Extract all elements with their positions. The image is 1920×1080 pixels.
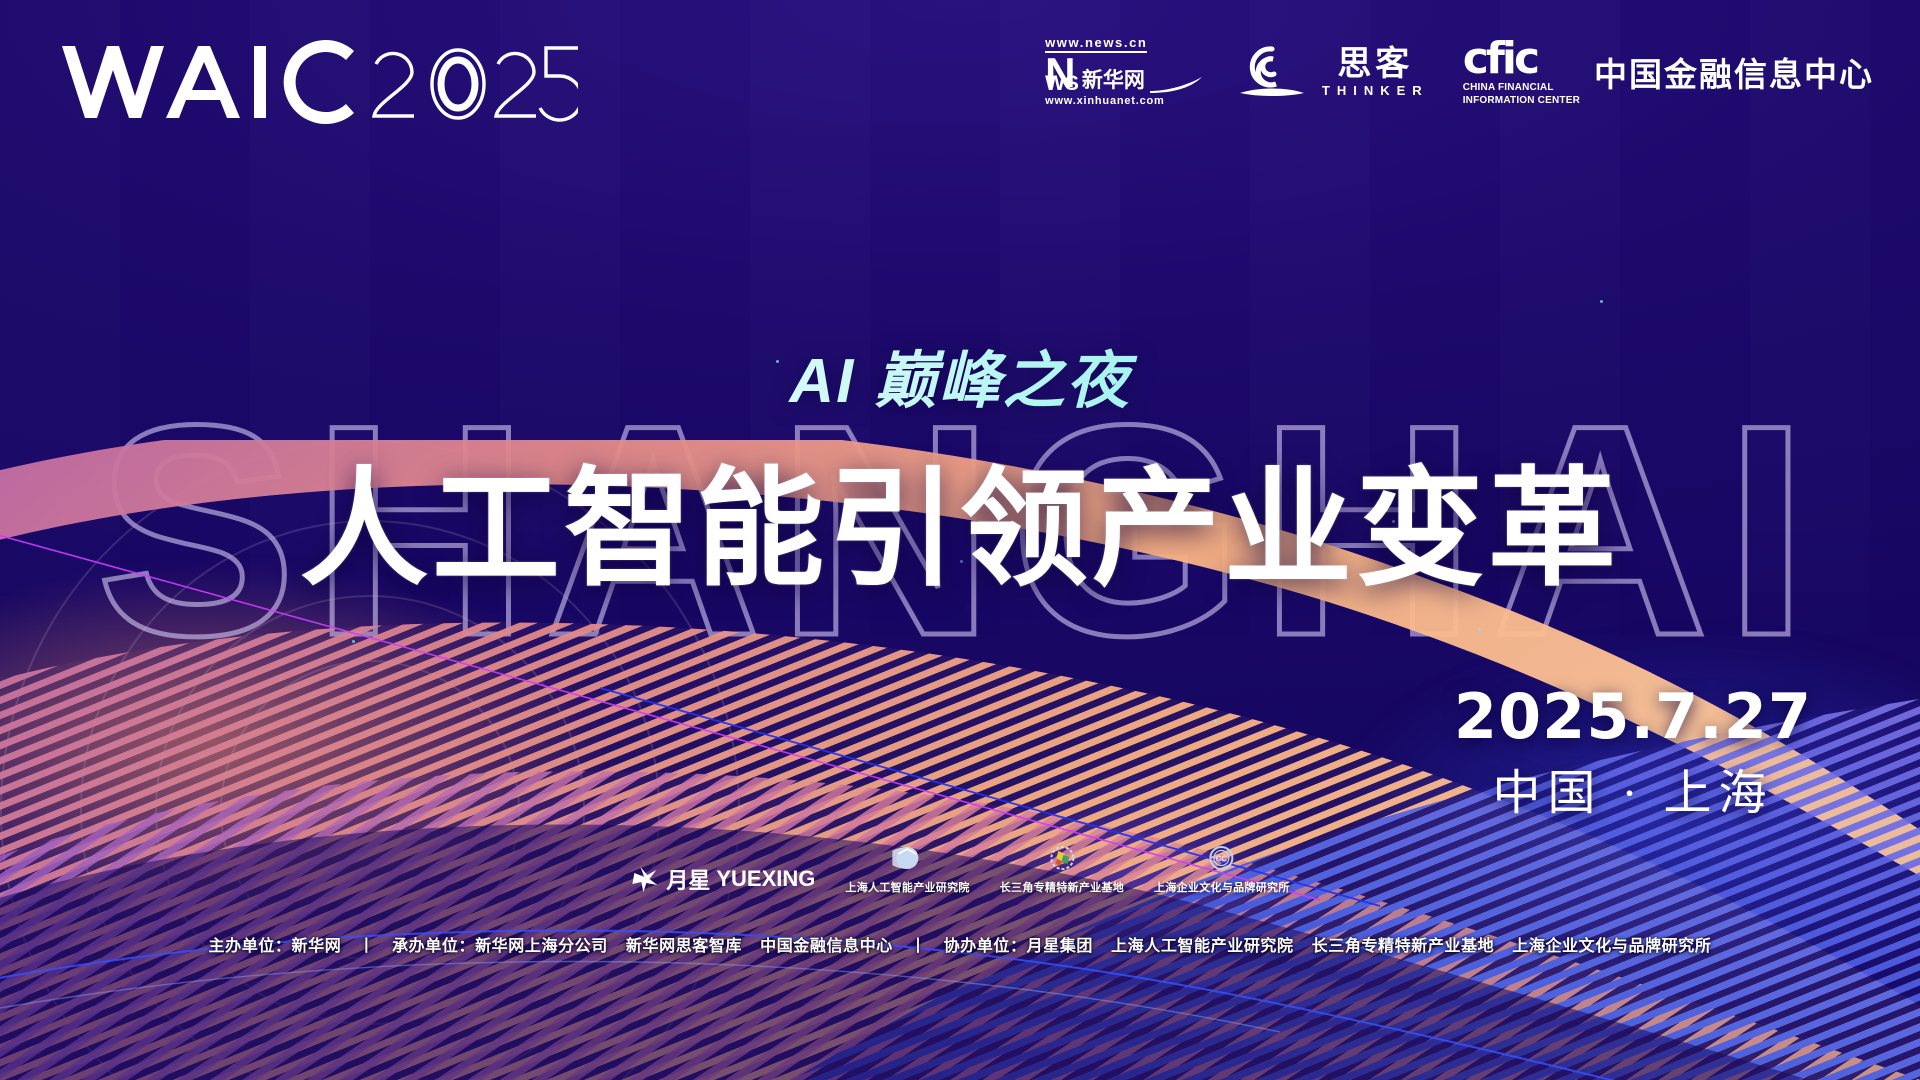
credits-organizer-label: 承办单位： <box>392 938 475 955</box>
thinker-cn: 思客 <box>1337 47 1413 81</box>
credits-organizer-2: 中国金融信息中心 <box>760 938 893 955</box>
date-location-block: 2025.7.27 中国 · 上海 <box>1454 686 1812 818</box>
partner-logo-thinker[interactable]: 思客 THINKER <box>1238 43 1429 101</box>
cfic-en-line1: CHINA FINANCIAL <box>1463 82 1580 94</box>
event-place: 中国 · 上海 <box>1454 770 1812 818</box>
header: www.news.cn N WS 新华网 www.xinhuanet.com <box>0 0 1920 150</box>
credits-organizer-0: 新华网上海分公司 <box>475 938 608 955</box>
waic-logo[interactable] <box>58 42 578 122</box>
yrd-base-circle-icon <box>1047 845 1077 875</box>
xinhuanet-cn: 新华网 <box>1082 70 1145 93</box>
yuexing-mark: 月星 <box>666 863 710 895</box>
credits-host: 新华网 <box>292 938 342 955</box>
credits-coorganizer-2: 长三角专精特新产业基地 <box>1312 938 1495 955</box>
sponsor-yuexing[interactable]: 月星 YUEXING <box>630 863 815 895</box>
cfic-wordmark: cfic <box>1463 37 1580 81</box>
credits-host-label: 主办单位： <box>209 938 292 955</box>
yuexing-word: YUEXING <box>716 866 815 892</box>
thinker-spiral-icon <box>1238 43 1310 101</box>
partner-logo-group: www.news.cn N WS 新华网 www.xinhuanet.com <box>1045 36 1874 107</box>
credits-coorganizer-1: 上海人工智能产业研究院 <box>1111 938 1294 955</box>
partner-logo-xinhuanet[interactable]: www.news.cn N WS 新华网 www.xinhuanet.com <box>1045 36 1204 107</box>
credits-coorganizer-label: 协办单位： <box>944 938 1027 955</box>
thinker-en: THINKER <box>1322 84 1429 97</box>
sponsor-shanghai-culture-brand-institute[interactable]: CC 上海企业文化与品牌研究所 <box>1154 845 1290 895</box>
xinhuanet-letters-ws: WS <box>1045 76 1079 93</box>
credits-organizer-1: 新华网思客智库 <box>626 938 742 955</box>
ai-institute-globe-icon <box>893 845 923 875</box>
partner-logo-cfic[interactable]: cfic CHINA FINANCIAL INFORMATION CENTER … <box>1463 37 1874 106</box>
cfic-en-line2: INFORMATION CENTER <box>1463 95 1580 107</box>
xinhuanet-url-bottom: www.xinhuanet.com <box>1045 96 1165 107</box>
sponsor-logo-row: 月星 YUEXING 上海人工智能产业研究院 长三角专精特新产业基地 <box>630 845 1289 895</box>
event-headline: 人工智能引领产业变革 <box>0 425 1920 610</box>
credits-line: 主办单位：新华网 丨 承办单位：新华网上海分公司新华网思客智库中国金融信息中心 … <box>0 932 1920 956</box>
xinhuanet-swoosh-icon <box>1150 77 1204 93</box>
svg-text:CC: CC <box>1216 855 1228 864</box>
credits-coorganizer-3: 上海企业文化与品牌研究所 <box>1512 938 1711 955</box>
credits-separator-2: 丨 <box>898 932 939 956</box>
culture-brand-seal-icon: CC <box>1207 845 1237 875</box>
credits-separator-1: 丨 <box>346 932 387 956</box>
cfic-cn: 中国金融信息中心 <box>1594 48 1874 96</box>
yuexing-star-icon <box>630 864 660 894</box>
sponsor-yrd-sme-base[interactable]: 长三角专精特新产业基地 <box>1000 845 1124 895</box>
sponsor-name: 上海企业文化与品牌研究所 <box>1154 879 1290 895</box>
sponsor-name: 上海人工智能产业研究院 <box>845 879 969 895</box>
credits-coorganizer-0: 月星集团 <box>1027 938 1093 955</box>
sponsor-name: 长三角专精特新产业基地 <box>1000 879 1124 895</box>
event-date: 2025.7.27 <box>1454 686 1812 748</box>
sponsor-shanghai-ai-institute[interactable]: 上海人工智能产业研究院 <box>845 845 969 895</box>
poster-canvas: SHANGHAI <box>0 0 1920 1080</box>
event-subtitle: AI 巅峰之夜 <box>0 330 1920 420</box>
